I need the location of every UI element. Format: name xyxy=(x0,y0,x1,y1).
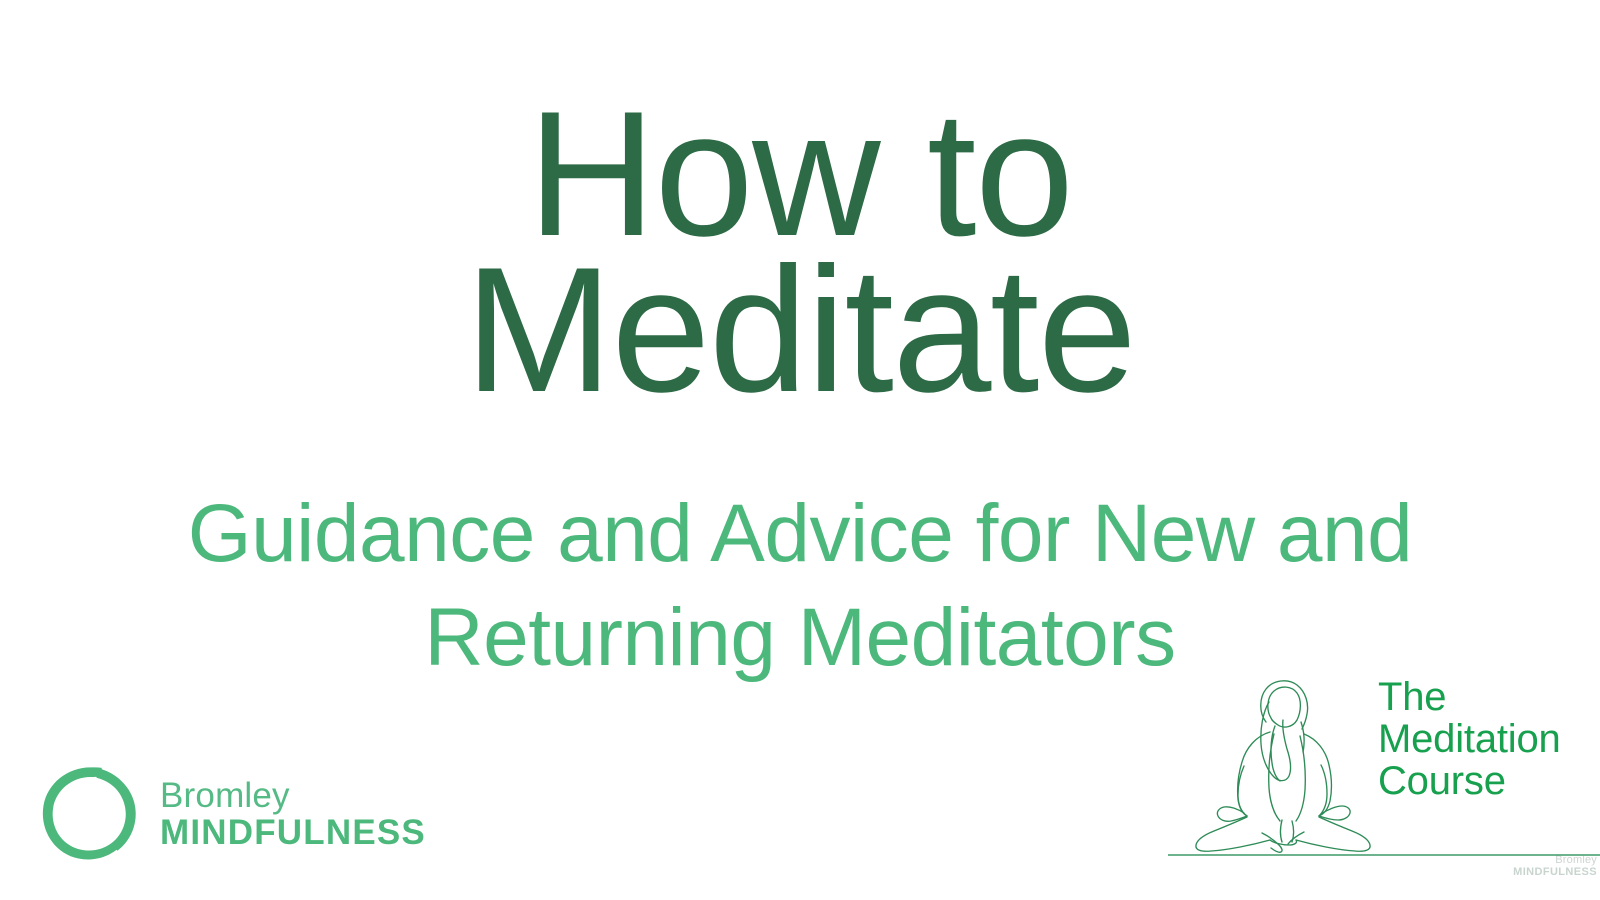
bromley-brand-top: Bromley xyxy=(160,778,426,814)
bromley-mindfulness-logo: Bromley MINDFULNESS xyxy=(34,758,426,866)
meditating-figure-line-art-icon xyxy=(1170,670,1390,855)
page-title: How to Meditate xyxy=(0,96,1600,408)
tmc-line-2: Meditation xyxy=(1378,718,1600,760)
title-line-2: Meditate xyxy=(0,252,1600,408)
meditation-course-logo: The Meditation Course Bromley MINDFULNES… xyxy=(1160,662,1600,900)
page-subtitle: Guidance and Advice for New and Returnin… xyxy=(0,482,1600,690)
slide-canvas: How to Meditate Guidance and Advice for … xyxy=(0,0,1600,900)
logo-baseline-divider xyxy=(1168,843,1600,845)
bromley-submark-top: Bromley xyxy=(1513,854,1597,866)
bromley-wordmark: Bromley MINDFULNESS xyxy=(160,772,426,852)
meditation-course-wordmark: The Meditation Course xyxy=(1378,676,1600,802)
title-line-1: How to xyxy=(0,96,1600,252)
enso-ring-icon xyxy=(34,758,146,866)
bromley-submark-bottom: MINDFULNESS xyxy=(1513,866,1597,879)
bromley-brand-bottom: MINDFULNESS xyxy=(160,814,426,852)
tmc-line-3: Course xyxy=(1378,760,1600,802)
tmc-line-1: The xyxy=(1378,676,1600,718)
subtitle-line-1: Guidance and Advice for New and xyxy=(0,482,1600,586)
bromley-submark: Bromley MINDFULNESS xyxy=(1513,854,1597,879)
